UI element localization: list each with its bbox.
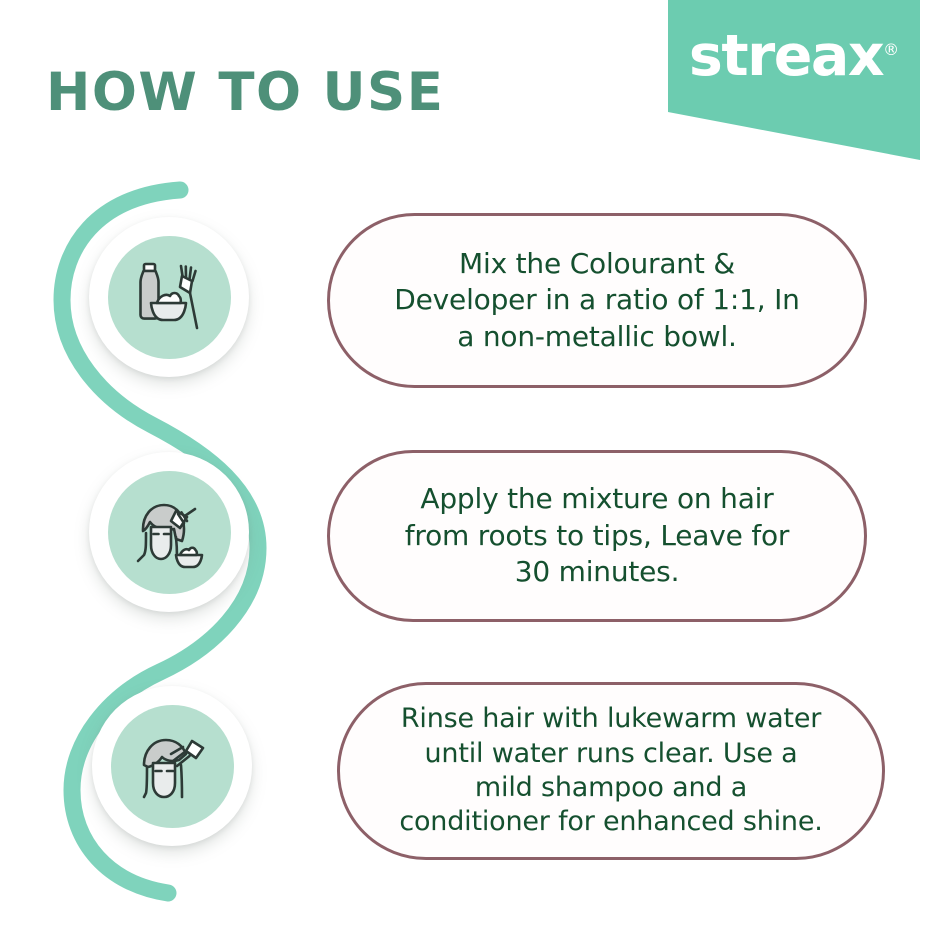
step-3-text-pill: Rinse hair with lukewarm water until wat… <box>337 682 885 860</box>
step-1-icon-badge <box>89 217 249 377</box>
step-2-text-pill: Apply the mixture on hair from roots to … <box>327 450 867 622</box>
step-3-icon-badge <box>92 686 252 846</box>
step-2-icon-disc <box>108 471 231 594</box>
bottle-bowl-brush-icon <box>126 254 212 340</box>
page-title: HOW TO USE <box>46 66 444 119</box>
hair-rinse-shower-icon <box>129 723 215 809</box>
brand-logo-wordmark: streax <box>689 23 883 89</box>
brand-logo-text: streax® <box>668 28 920 85</box>
step-3-text: Rinse hair with lukewarm water until wat… <box>399 702 822 839</box>
step-row-2: Apply the mixture on hair from roots to … <box>0 440 940 635</box>
brand-logo-banner: streax® <box>668 0 920 165</box>
step-1-icon-disc <box>108 236 231 359</box>
step-row-3: Rinse hair with lukewarm water until wat… <box>0 672 940 872</box>
step-1-text: Mix the Colourant & Developer in a ratio… <box>394 246 799 355</box>
step-2-text: Apply the mixture on hair from roots to … <box>405 481 790 590</box>
step-row-1: Mix the Colourant & Developer in a ratio… <box>0 205 940 400</box>
step-1-text-pill: Mix the Colourant & Developer in a ratio… <box>327 213 867 388</box>
step-3-icon-disc <box>111 705 234 828</box>
step-2-icon-badge <box>89 452 249 612</box>
registered-trademark-icon: ® <box>883 40 899 59</box>
how-to-use-infographic: streax® HOW TO USE <box>0 0 940 940</box>
hair-application-brush-icon <box>126 489 212 575</box>
